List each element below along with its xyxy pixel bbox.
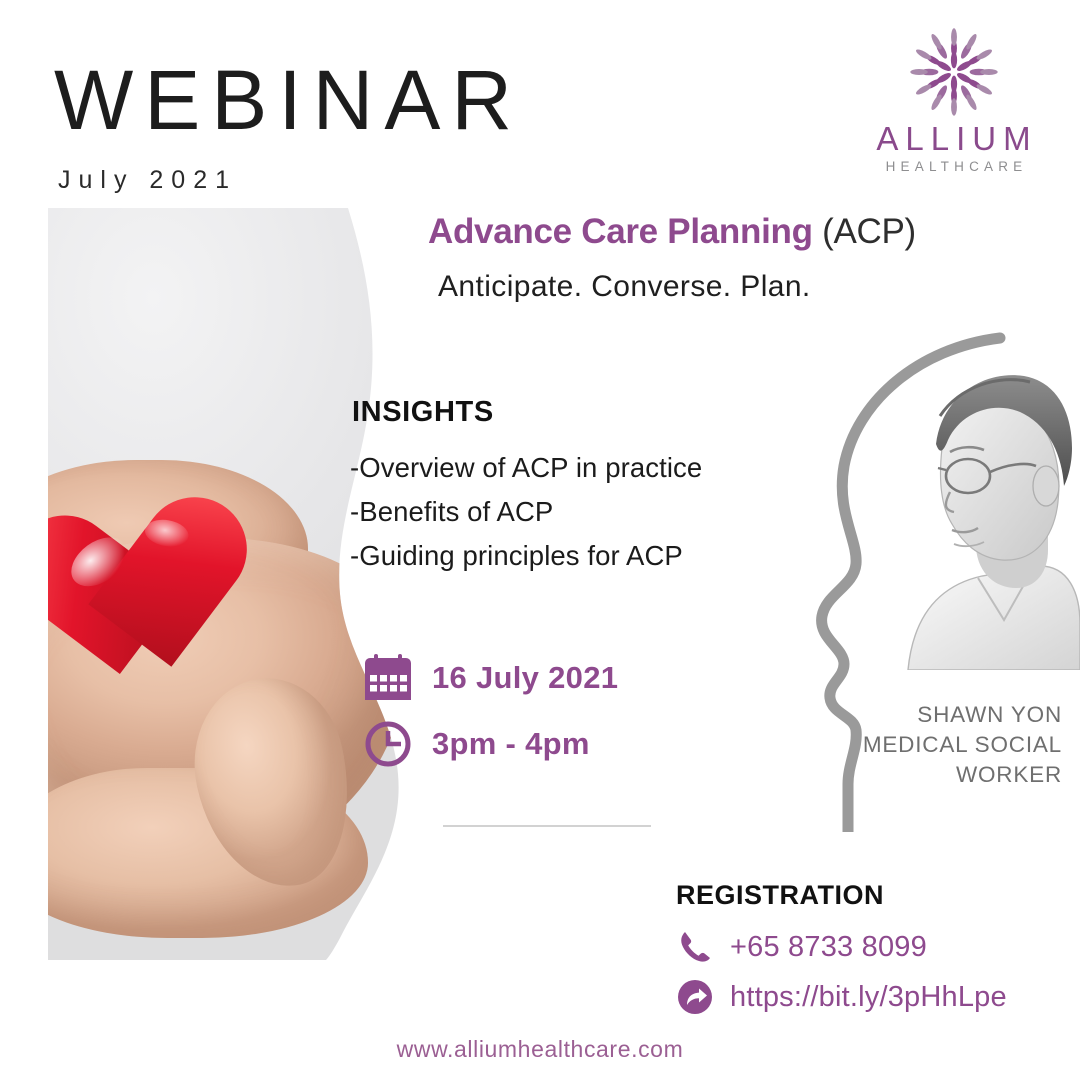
speaker-role-line2: WORKER bbox=[762, 760, 1062, 790]
speaker-role-line1: MEDICAL SOCIAL bbox=[762, 730, 1062, 760]
footer-website[interactable]: www.alliumhealthcare.com bbox=[0, 1036, 1080, 1063]
speaker-credit: SHAWN YON MEDICAL SOCIAL WORKER bbox=[762, 700, 1062, 790]
registration-phone-row[interactable]: +65 8733 8099 bbox=[676, 928, 927, 966]
allium-flower-icon bbox=[908, 26, 1000, 118]
calendar-icon bbox=[362, 652, 414, 704]
webinar-poster: WEBINAR July 2021 bbox=[0, 0, 1080, 1080]
registration-link: https://bit.ly/3pHhLpe bbox=[730, 981, 1007, 1014]
schedule-date-row: 16 July 2021 bbox=[362, 652, 618, 704]
page-title: WEBINAR bbox=[54, 58, 523, 142]
logo-subtitle: HEALTHCARE bbox=[864, 159, 1044, 174]
topic-title: Advance Care Planning (ACP) bbox=[428, 212, 916, 252]
red-heart-icon bbox=[48, 495, 270, 706]
schedule-time: 3pm - 4pm bbox=[432, 726, 590, 762]
topic-title-main: Advance Care Planning bbox=[428, 212, 813, 251]
topic-title-abbr: (ACP) bbox=[822, 212, 916, 251]
list-item: -Benefits of ACP bbox=[350, 490, 702, 534]
insights-heading: INSIGHTS bbox=[352, 396, 494, 429]
speaker-portrait bbox=[900, 352, 1080, 670]
schedule-time-row: 3pm - 4pm bbox=[362, 718, 590, 770]
topic-tagline: Anticipate. Converse. Plan. bbox=[438, 270, 811, 304]
insights-list: -Overview of ACP in practice -Benefits o… bbox=[350, 446, 702, 578]
brand-logo: ALLIUM HEALTHCARE bbox=[864, 26, 1044, 174]
hand-holding-heart-photo bbox=[48, 208, 400, 960]
speaker-name: SHAWN YON bbox=[762, 700, 1062, 730]
share-arrow-icon bbox=[676, 978, 714, 1016]
logo-name: ALLIUM bbox=[864, 122, 1044, 157]
phone-icon bbox=[676, 928, 714, 966]
registration-phone: +65 8733 8099 bbox=[730, 931, 927, 964]
registration-heading: REGISTRATION bbox=[676, 880, 884, 911]
list-item: -Overview of ACP in practice bbox=[350, 446, 702, 490]
registration-link-row[interactable]: https://bit.ly/3pHhLpe bbox=[676, 978, 1007, 1016]
webinar-month: July 2021 bbox=[58, 166, 237, 195]
schedule-date: 16 July 2021 bbox=[432, 660, 618, 696]
divider bbox=[443, 825, 651, 827]
clock-icon bbox=[362, 718, 414, 770]
list-item: -Guiding principles for ACP bbox=[350, 534, 702, 578]
